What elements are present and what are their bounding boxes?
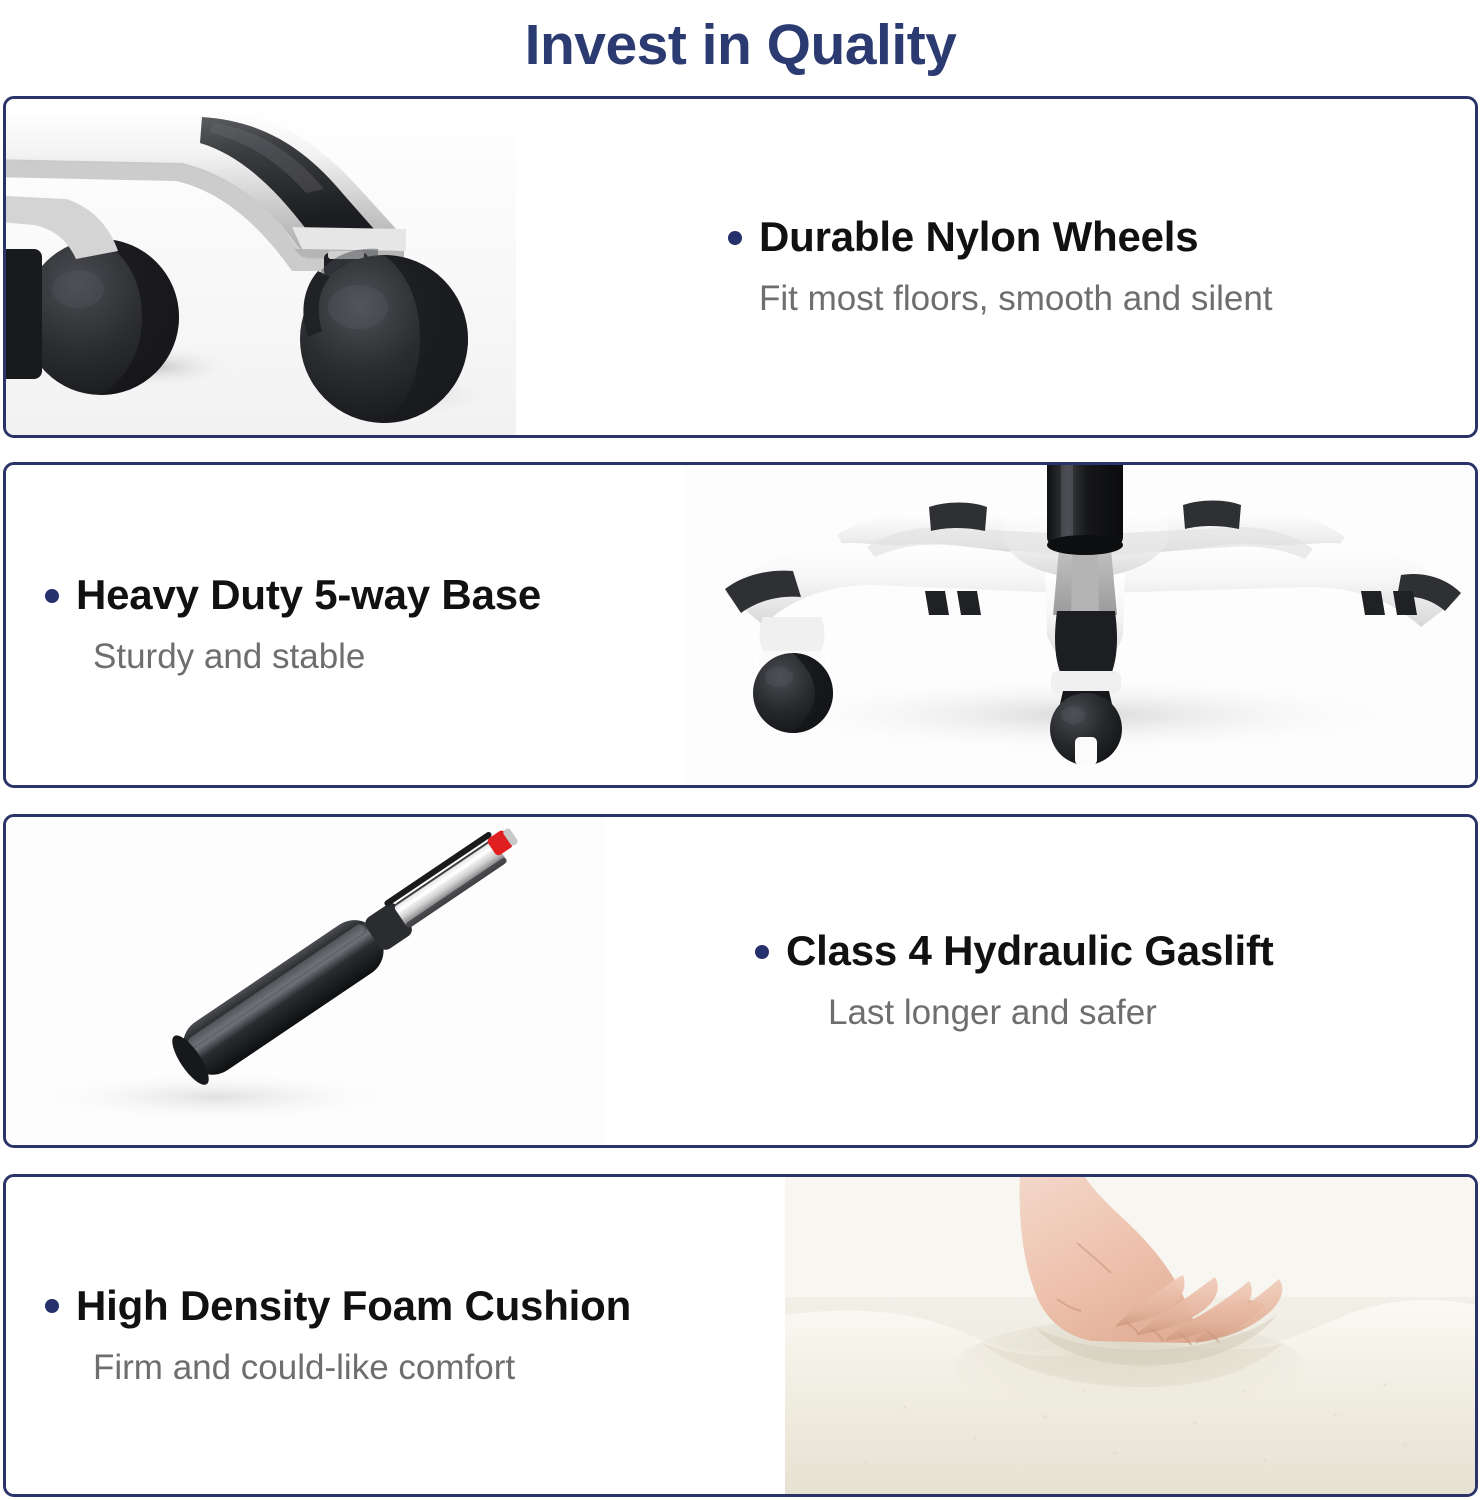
five-star-base-illustration xyxy=(685,465,1475,785)
caster-wheel-illustration xyxy=(6,99,516,435)
five-star-base-image xyxy=(685,465,1475,785)
feature-heading-row: High Density Foam Cushion xyxy=(45,1284,785,1329)
base-text-block: Heavy Duty 5-way Base Sturdy and stable xyxy=(6,465,685,785)
wheels-image xyxy=(6,99,516,435)
feature-heading-row: Durable Nylon Wheels xyxy=(728,215,1475,260)
product-feature-infographic: Invest in Quality xyxy=(0,0,1481,1500)
gas-lift-cylinder-illustration xyxy=(6,817,606,1145)
feature-heading-row: Class 4 Hydraulic Gaslift xyxy=(755,929,1475,974)
page-header: Invest in Quality xyxy=(0,0,1481,90)
bullet-icon xyxy=(45,589,59,603)
feature-title: High Density Foam Cushion xyxy=(76,1284,631,1329)
feature-subtitle: Firm and could-like comfort xyxy=(93,1349,785,1388)
bullet-icon xyxy=(728,231,742,245)
feature-subtitle: Last longer and safer xyxy=(828,994,1475,1033)
feature-title: Heavy Duty 5-way Base xyxy=(76,573,541,618)
feature-heading-row: Heavy Duty 5-way Base xyxy=(45,573,685,618)
gaslift-text-block: Class 4 Hydraulic Gaslift Last longer an… xyxy=(606,817,1475,1145)
wheels-text-block: Durable Nylon Wheels Fit most floors, sm… xyxy=(516,99,1475,435)
feature-card-foam-cushion: High Density Foam Cushion Firm and could… xyxy=(3,1174,1478,1497)
hand-pressing-foam-illustration xyxy=(785,1177,1475,1494)
feature-card-heavy-duty-base: Heavy Duty 5-way Base Sturdy and stable xyxy=(3,462,1478,788)
feature-card-durable-nylon-wheels: Durable Nylon Wheels Fit most floors, sm… xyxy=(3,96,1478,438)
bullet-icon xyxy=(45,1299,59,1313)
feature-title: Class 4 Hydraulic Gaslift xyxy=(786,929,1274,974)
feature-title: Durable Nylon Wheels xyxy=(759,215,1198,260)
feature-subtitle: Fit most floors, smooth and silent xyxy=(759,280,1475,319)
page-title: Invest in Quality xyxy=(525,17,957,74)
foam-text-block: High Density Foam Cushion Firm and could… xyxy=(6,1177,785,1494)
gaslift-image xyxy=(6,817,606,1145)
feature-card-hydraulic-gaslift: Class 4 Hydraulic Gaslift Last longer an… xyxy=(3,814,1478,1148)
feature-subtitle: Sturdy and stable xyxy=(93,638,685,677)
bullet-icon xyxy=(755,945,769,959)
foam-cushion-image xyxy=(785,1177,1475,1494)
